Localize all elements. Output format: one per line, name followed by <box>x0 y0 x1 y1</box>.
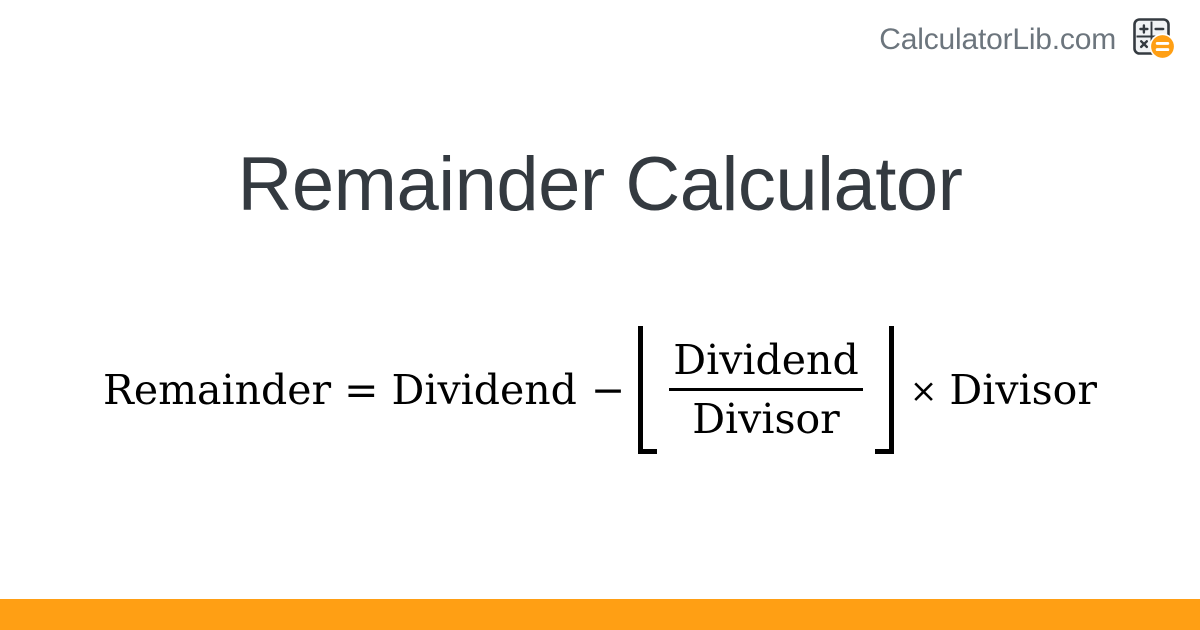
bottom-accent-bar <box>0 599 1200 630</box>
page-title: Remainder Calculator <box>0 144 1200 226</box>
page-root: CalculatorLib.com <box>0 0 1200 630</box>
formula-result-term: Remainder <box>103 370 331 411</box>
calculator-icon <box>1132 17 1178 63</box>
floor-bracket-left-icon <box>638 326 660 454</box>
floor-function-group: Dividend Divisor <box>638 326 893 454</box>
formula-first-term: Dividend <box>392 370 577 411</box>
brand-header[interactable]: CalculatorLib.com <box>879 17 1178 63</box>
formula-equals-sign: = <box>331 370 391 411</box>
fraction-denominator: Divisor <box>688 391 844 440</box>
formula-minus-sign: − <box>577 370 638 411</box>
formula-fraction: Dividend Divisor <box>660 326 871 454</box>
floor-bracket-right-icon <box>872 326 894 454</box>
formula-times-sign: × <box>894 374 950 407</box>
remainder-formula: Remainder = Dividend − Dividend Divisor … <box>103 326 1097 454</box>
formula-block: Remainder = Dividend − Dividend Divisor … <box>0 300 1200 480</box>
fraction-numerator: Dividend <box>669 340 862 388</box>
formula-last-term: Divisor <box>949 370 1097 411</box>
brand-name: CalculatorLib.com <box>879 25 1116 55</box>
